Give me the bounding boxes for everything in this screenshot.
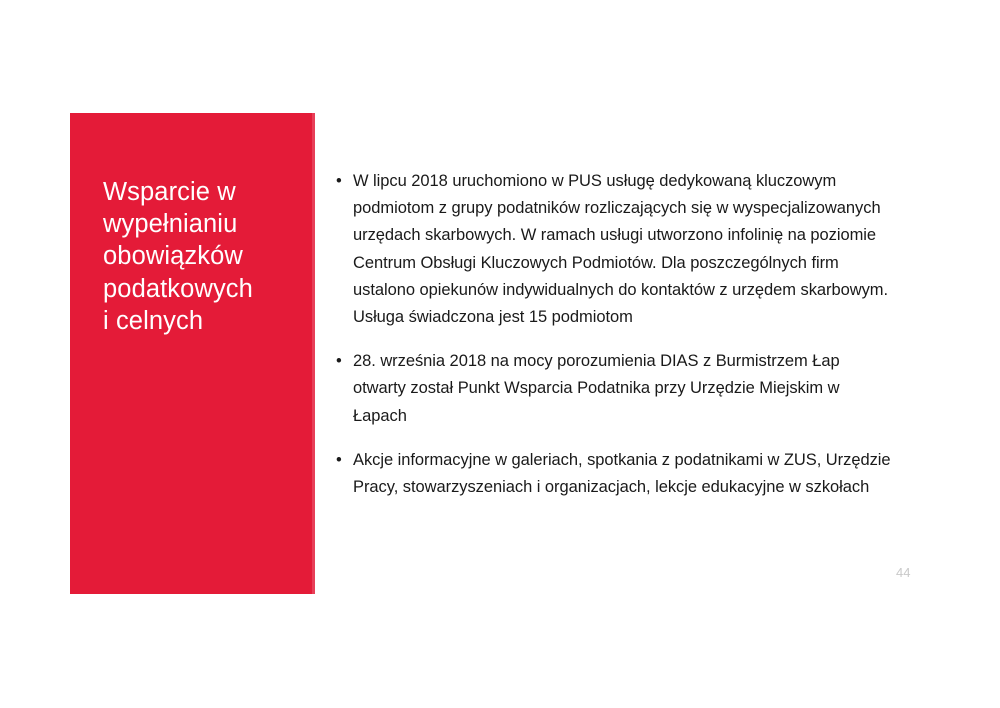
slide-canvas: Wsparcie w wypełnianiu obowiązków podatk… (0, 0, 1000, 708)
slide-title: Wsparcie w wypełnianiu obowiązków podatk… (103, 176, 303, 337)
bullet-point-icon: • (336, 447, 353, 474)
bullet-list: • W lipcu 2018 uruchomiono w PUS usługę … (336, 168, 892, 501)
list-item: • 28. września 2018 na mocy porozumienia… (336, 348, 892, 430)
page-number: 44 (896, 565, 936, 581)
bullet-text: Akcje informacyjne w galeriach, spotkani… (353, 447, 892, 501)
bullet-point-icon: • (336, 348, 353, 375)
bullet-text: W lipcu 2018 uruchomiono w PUS usługę de… (353, 168, 892, 331)
list-item: • Akcje informacyjne w galeriach, spotka… (336, 447, 892, 501)
title-accent-panel: Wsparcie w wypełnianiu obowiązków podatk… (70, 113, 315, 594)
bullet-text: 28. września 2018 na mocy porozumienia D… (353, 348, 892, 430)
bullet-point-icon: • (336, 168, 353, 195)
list-item: • W lipcu 2018 uruchomiono w PUS usługę … (336, 168, 892, 331)
